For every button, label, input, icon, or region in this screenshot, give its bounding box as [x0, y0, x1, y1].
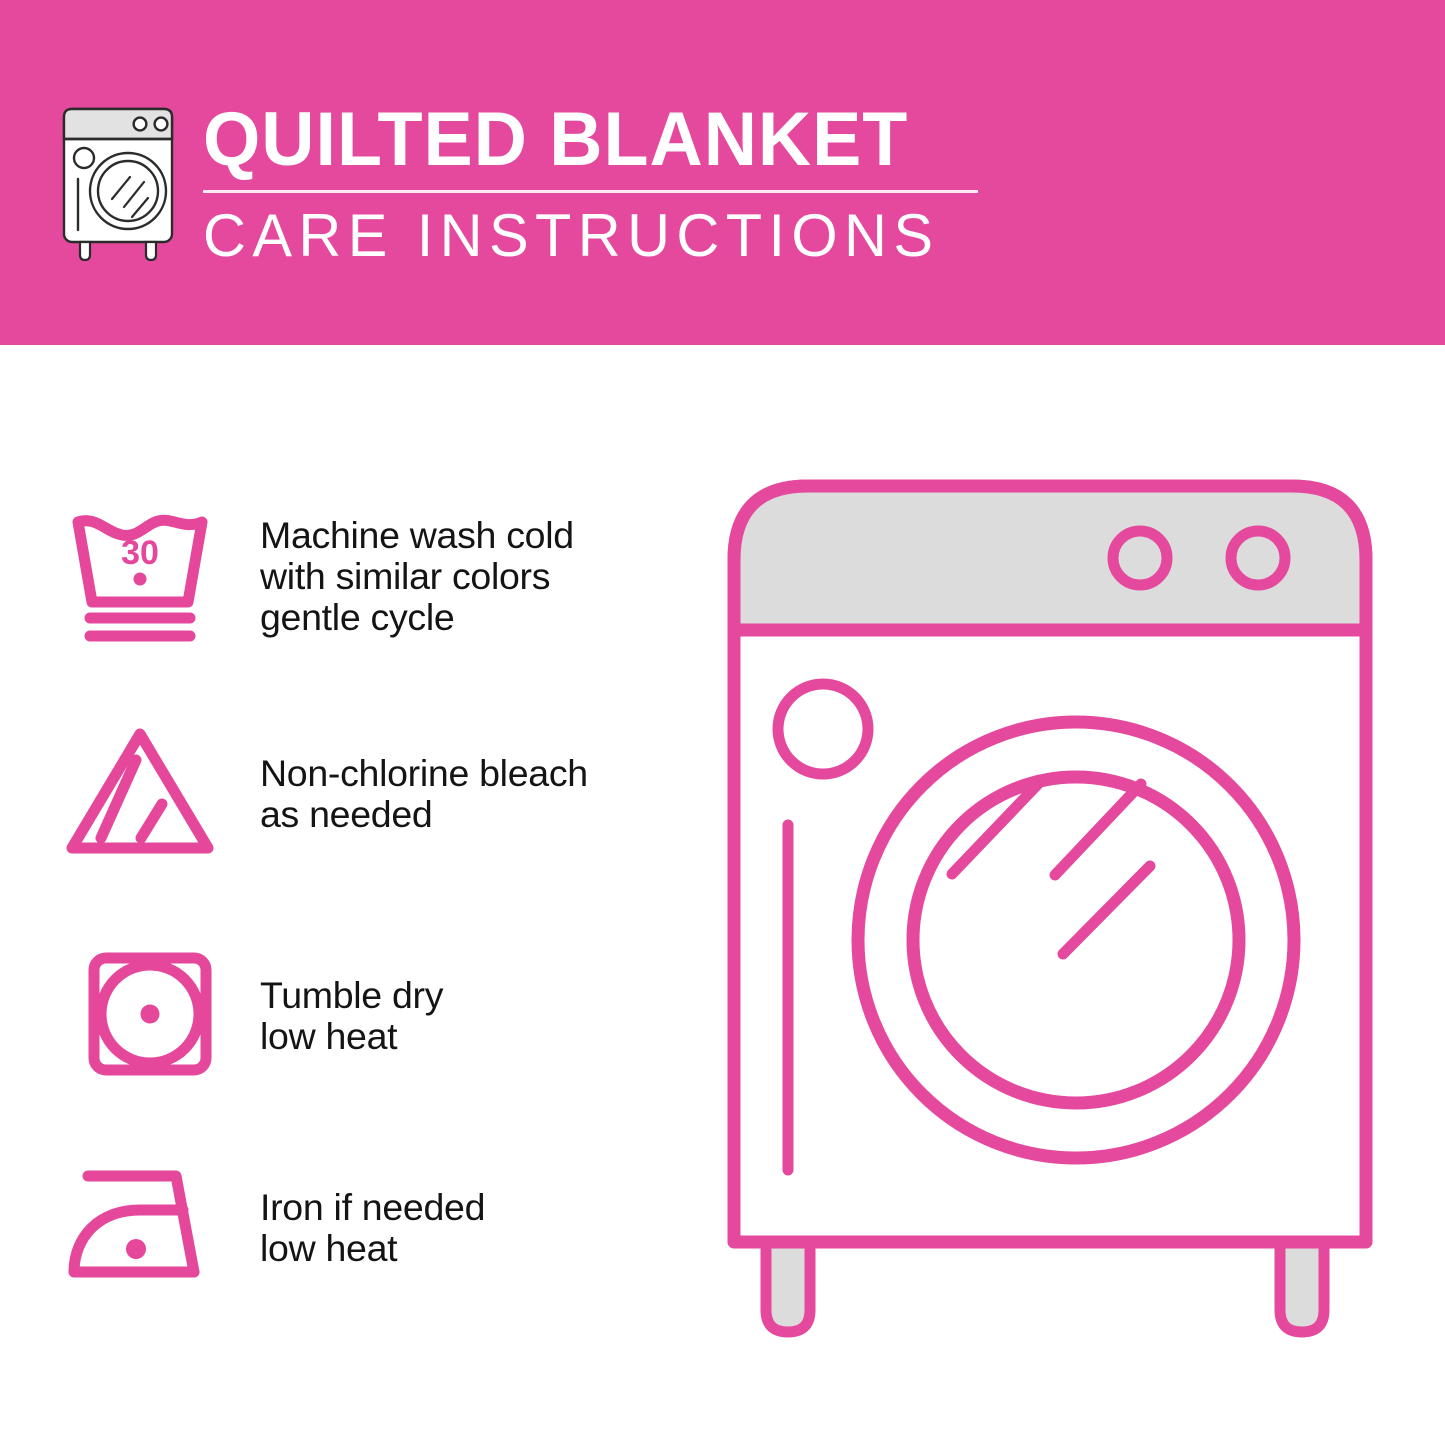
header-title-block: QUILTED BLANKET CARE INSTRUCTIONS [203, 98, 993, 269]
care-label-iron: Iron if needed low heat [260, 1145, 485, 1269]
care-instruction-list: 30 Machine wash cold with similar colors… [0, 345, 700, 1445]
front-load-washing-machine-illustration [718, 470, 1418, 1360]
washing-machine-icon [58, 103, 188, 263]
care-label-bleach: Non-chlorine bleach as needed [260, 715, 588, 835]
iron-low-heat-icon [62, 1145, 238, 1305]
care-label-tumble-dry: Tumble dry low heat [260, 937, 443, 1057]
header-banner: QUILTED BLANKET CARE INSTRUCTIONS [0, 0, 1445, 345]
leg-right [1280, 1240, 1324, 1332]
leg-left [766, 1240, 810, 1332]
care-row-bleach: Non-chlorine bleach as needed [0, 715, 700, 875]
care-label-wash: Machine wash cold with similar colors ge… [260, 497, 574, 638]
care-row-iron: Iron if needed low heat [0, 1145, 700, 1305]
knob-right [1231, 531, 1285, 585]
page-title: QUILTED BLANKET [203, 98, 969, 182]
care-row-wash: 30 Machine wash cold with similar colors… [0, 497, 700, 657]
triangle-bleach-icon [62, 715, 238, 875]
care-instructions-infographic: QUILTED BLANKET CARE INSTRUCTIONS 30 [0, 0, 1445, 1445]
title-divider [203, 190, 978, 193]
detergent-dispenser [778, 684, 868, 774]
page-subtitle: CARE INSTRUCTIONS [203, 203, 985, 269]
wash-tub-30-icon: 30 [62, 497, 238, 657]
tumble-dry-low-icon [62, 937, 238, 1097]
wash-temperature-value: 30 [121, 534, 159, 572]
knob-left [1113, 531, 1167, 585]
care-row-tumble-dry: Tumble dry low heat [0, 937, 700, 1097]
